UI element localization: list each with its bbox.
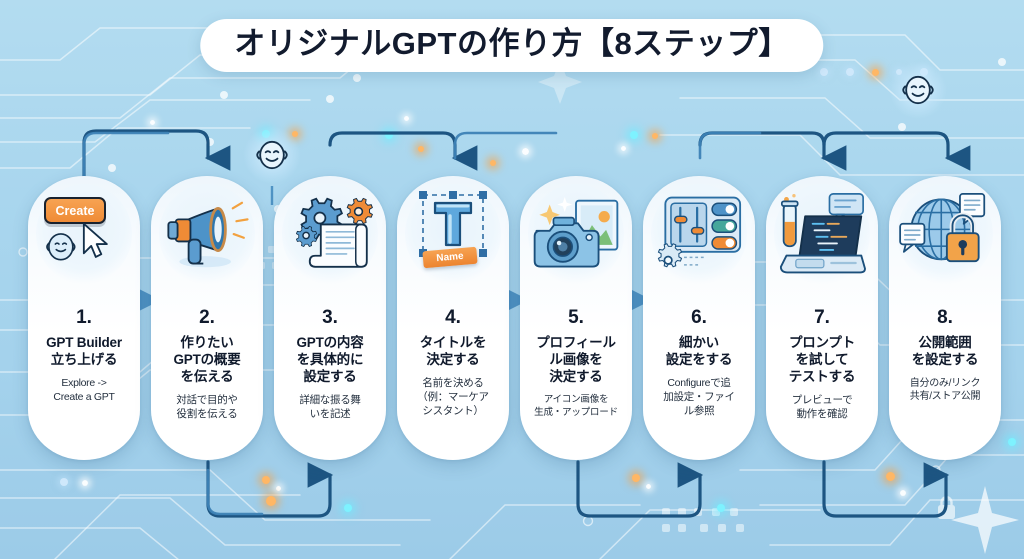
glow-dot	[266, 496, 276, 506]
step-7-text: 7. プロンプト を試して テストする プレビューで 動作を確認	[766, 294, 878, 460]
step-subtitle: アイコン画像を 生成・アップロード	[534, 394, 618, 419]
step-title: タイトルを 決定する	[420, 334, 487, 368]
robot-face-icon	[898, 70, 938, 110]
step-title: 細かい 設定をする	[666, 334, 733, 368]
glow-dot	[262, 476, 270, 484]
step-number: 3.	[322, 308, 338, 327]
step-7-artwork	[766, 176, 878, 294]
globe-padlock-icon	[898, 192, 992, 278]
glow-dot	[60, 478, 68, 486]
step-subtitle: 名前を決める （例：マーケア シスタント）	[417, 377, 488, 419]
glow-dot	[717, 504, 725, 512]
step-number: 8.	[937, 308, 953, 327]
name-tag-art: Name	[422, 247, 477, 269]
step-8-text: 8. 公開範囲 を設定する 自分のみ/リンク 共有/ストア公開	[889, 294, 1001, 460]
glow-dot	[652, 133, 658, 139]
page-title-text: オリジナルGPTの作り方【8ステップ】	[234, 28, 789, 61]
bot-and-cursor-icon	[40, 222, 124, 268]
create-button-art: Create	[44, 197, 106, 224]
step-title: プロフィール ル画像を 決定する	[536, 334, 616, 385]
step-title: 公開範囲 を設定する	[912, 334, 979, 368]
glow-dot	[490, 160, 496, 166]
megaphone-icon	[161, 193, 253, 277]
step-subtitle: プレビューで 動作を確認	[792, 394, 853, 422]
step-5-artwork	[520, 176, 632, 294]
step-5-text: 5. プロフィール ル画像を 決定する アイコン画像を 生成・アップロード	[520, 294, 632, 460]
step-number: 1.	[76, 308, 92, 327]
step-card-1[interactable]: Create 1. GPT Builder 立ち上げる	[28, 176, 140, 460]
step-title: GPTの内容 を具体的に 設定する	[296, 334, 363, 385]
infographic-canvas: オリジナルGPTの作り方【8ステップ】 Create	[0, 0, 1024, 559]
step-6-artwork	[643, 176, 755, 294]
step-8-artwork	[889, 176, 1001, 294]
glow-dot	[872, 69, 879, 76]
glow-dot	[886, 472, 895, 481]
step-subtitle: Explore -> Create a GPT	[53, 377, 114, 405]
glow-dot	[846, 68, 854, 76]
connector-6-to-7	[824, 462, 946, 516]
step-number: 5.	[568, 308, 584, 327]
step-title: GPT Builder 立ち上げる	[46, 334, 122, 368]
connector-4-to-5	[578, 462, 700, 516]
step-1-artwork: Create	[28, 176, 140, 294]
laptop-code-testtube-icon	[775, 192, 869, 278]
step-1-text: 1. GPT Builder 立ち上げる Explore -> Create a…	[28, 294, 140, 460]
rail-right	[700, 133, 760, 158]
step-card-4[interactable]: Name 4. タイトルを 決定する 名前を決める （例：マーケア シスタント）	[397, 176, 509, 460]
connector-7-to-8	[824, 133, 948, 158]
step-title: プロンプト を試して テストする	[789, 334, 856, 385]
connector-3-to-4	[330, 133, 455, 158]
step-3-artwork	[274, 176, 386, 294]
step-2-text: 2. 作りたい GPTの概要 を伝える 対話で目的や 役割を伝える	[151, 294, 263, 460]
step-number: 2.	[199, 308, 215, 327]
step-card-6[interactable]: 6. 細かい 設定をする Configureで追 加設定・ファイ ル参照	[643, 176, 755, 460]
glow-dot	[646, 484, 651, 489]
connector-5-to-6	[700, 133, 824, 158]
step-6-text: 6. 細かい 設定をする Configureで追 加設定・ファイ ル参照	[643, 294, 755, 460]
glow-dot	[820, 68, 828, 76]
glow-dot	[522, 148, 529, 155]
glow-dot	[632, 474, 640, 482]
step-4-artwork: Name	[397, 176, 509, 294]
step-card-7[interactable]: 7. プロンプト を試して テストする プレビューで 動作を確認	[766, 176, 878, 460]
step-subtitle: Configureで追 加設定・ファイ ル参照	[663, 377, 734, 419]
step-title: 作りたい GPTの概要 を伝える	[173, 334, 240, 385]
step-card-2[interactable]: 2. 作りたい GPTの概要 を伝える 対話で目的や 役割を伝える	[151, 176, 263, 460]
step-number: 4.	[445, 308, 461, 327]
create-button-label: Create	[56, 204, 95, 218]
step-2-artwork	[151, 176, 263, 294]
step-card-8[interactable]: 8. 公開範囲 を設定する 自分のみ/リンク 共有/ストア公開	[889, 176, 1001, 460]
rail-mid	[455, 133, 556, 158]
rail-bottom-left	[208, 470, 262, 514]
glow-dot	[1008, 438, 1016, 446]
step-subtitle: 対話で目的や 役割を伝える	[176, 394, 237, 422]
glow-dot	[276, 486, 281, 491]
glow-dot	[82, 480, 88, 486]
glow-dot	[630, 131, 638, 139]
step-3-text: 3. GPTの内容 を具体的に 設定する 詳細な振る舞 いを記述	[274, 294, 386, 460]
step-card-3[interactable]: 3. GPTの内容 を具体的に 設定する 詳細な振る舞 いを記述	[274, 176, 386, 460]
step-number: 7.	[814, 308, 830, 327]
camera-photo-icon	[529, 193, 623, 278]
step-4-text: 4. タイトルを 決定する 名前を決める （例：マーケア シスタント）	[397, 294, 509, 460]
glow-dot	[900, 490, 906, 496]
step-subtitle: 自分のみ/リンク 共有/ストア公開	[910, 377, 980, 403]
glow-dot	[418, 146, 424, 152]
glow-dot	[621, 146, 626, 151]
step-card-5[interactable]: 5. プロフィール ル画像を 決定する アイコン画像を 生成・アップロード	[520, 176, 632, 460]
step-subtitle: 詳細な振る舞 いを記述	[299, 394, 360, 422]
glow-dot	[344, 504, 352, 512]
text-title-icon	[407, 189, 499, 281]
step-number: 6.	[691, 308, 707, 327]
gears-scroll-icon	[284, 193, 376, 278]
glow-dot	[404, 116, 409, 121]
name-tag-label: Name	[436, 251, 464, 264]
glow-dot	[150, 120, 155, 125]
page-title: オリジナルGPTの作り方【8ステップ】	[200, 19, 823, 72]
robot-face-icon	[252, 135, 292, 175]
connector-2-to-3	[208, 462, 330, 516]
sliders-toggles-gear-icon	[652, 192, 746, 278]
glow-dot	[385, 131, 393, 139]
